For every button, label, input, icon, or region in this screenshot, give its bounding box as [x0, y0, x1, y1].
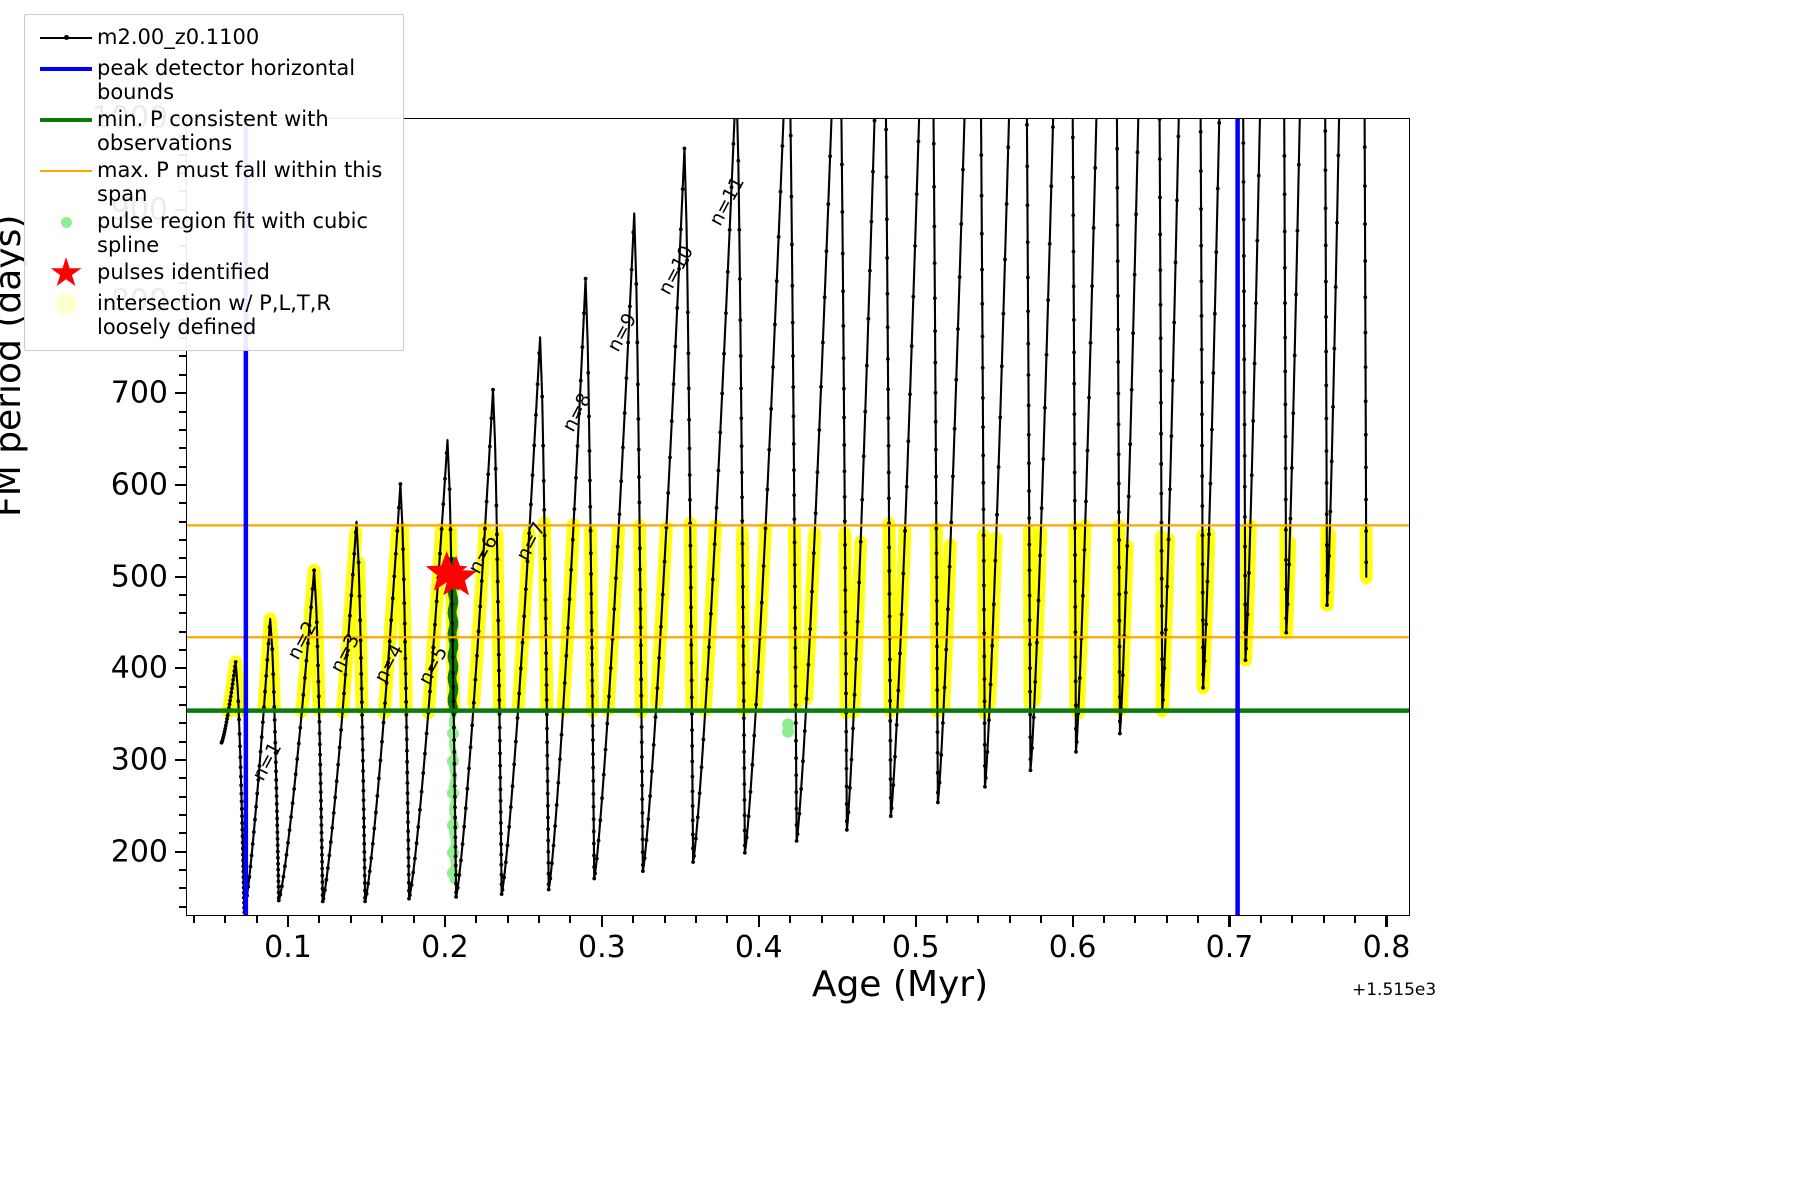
- legend-label: max. P must fall within this span: [97, 156, 393, 206]
- x-tick-minor: [256, 916, 258, 923]
- legend-entry-min-period[interactable]: min. P consistent with observations: [35, 105, 393, 155]
- y-tick-minor: [179, 521, 186, 523]
- x-tick-minor: [1197, 916, 1199, 923]
- x-tick-minor: [1134, 916, 1136, 923]
- y-tick-minor: [179, 594, 186, 596]
- y-tick-major: [175, 484, 186, 486]
- x-tick-minor: [1291, 916, 1293, 923]
- red-star-icon: ★: [35, 258, 97, 288]
- y-tick-minor: [179, 374, 186, 376]
- y-tick-minor: [179, 466, 186, 468]
- y-tick-minor: [179, 887, 186, 889]
- y-tick-label: 400: [58, 651, 168, 686]
- x-tick-major: [287, 916, 289, 927]
- legend-label: peak detector horizontal bounds: [97, 54, 393, 104]
- y-tick-minor: [179, 612, 186, 614]
- y-tick-minor: [179, 631, 186, 633]
- orange-line-icon: [35, 156, 97, 186]
- x-tick-minor: [977, 916, 979, 923]
- legend-label: pulses identified: [97, 258, 270, 285]
- x-tick-minor: [413, 916, 415, 923]
- x-tick-minor: [695, 916, 697, 923]
- y-tick-label: 600: [58, 467, 168, 502]
- legend-entry-peak-bounds[interactable]: peak detector horizontal bounds: [35, 54, 393, 104]
- legend-label: pulse region fit with cubic spline: [97, 207, 393, 257]
- x-tick-minor: [789, 916, 791, 923]
- y-tick-minor: [179, 502, 186, 504]
- x-tick-minor: [569, 916, 571, 923]
- yellow-dot-icon: [35, 289, 97, 319]
- y-tick-minor: [179, 722, 186, 724]
- y-tick-label: 200: [58, 834, 168, 869]
- x-tick-label: 0.6: [1049, 930, 1097, 965]
- x-tick-minor: [946, 916, 948, 923]
- x-tick-minor: [632, 916, 634, 923]
- green-line-icon: [35, 105, 97, 135]
- legend-entry-spline-fit[interactable]: pulse region fit with cubic spline: [35, 207, 393, 257]
- y-tick-minor: [179, 447, 186, 449]
- x-axis-offset-text: +1.515e3: [1352, 980, 1436, 1000]
- x-tick-minor: [193, 916, 195, 923]
- y-tick-major: [175, 759, 186, 761]
- legend-entry-intersection[interactable]: intersection w/ P,L,T,R loosely defined: [35, 289, 393, 339]
- x-tick-minor: [726, 916, 728, 923]
- legend-entry-max-period[interactable]: max. P must fall within this span: [35, 156, 393, 206]
- x-tick-minor: [821, 916, 823, 923]
- y-tick-minor: [179, 557, 186, 559]
- y-tick-label: 300: [58, 743, 168, 778]
- y-tick-major: [175, 851, 186, 853]
- x-axis-label: Age (Myr): [0, 964, 1800, 1005]
- y-tick-label: 500: [58, 559, 168, 594]
- x-tick-minor: [883, 916, 885, 923]
- y-tick-minor: [179, 869, 186, 871]
- y-tick-minor: [179, 796, 186, 798]
- x-tick-label: 0.4: [735, 930, 783, 965]
- x-tick-label: 0.7: [1206, 930, 1254, 965]
- x-tick-major: [1228, 916, 1230, 927]
- legend[interactable]: m2.00_z0.1100 peak detector horizontal b…: [24, 14, 404, 351]
- green-dot-icon: [35, 207, 97, 237]
- y-tick-label: 700: [58, 376, 168, 411]
- x-tick-minor: [1323, 916, 1325, 923]
- x-tick-minor: [1260, 916, 1262, 923]
- y-tick-major: [175, 576, 186, 578]
- x-tick-label: 0.8: [1363, 930, 1411, 965]
- x-tick-minor: [507, 916, 509, 923]
- x-tick-minor: [538, 916, 540, 923]
- x-tick-label: 0.2: [421, 930, 469, 965]
- line-marker-icon: [35, 23, 97, 53]
- legend-entry-model[interactable]: m2.00_z0.1100: [35, 23, 393, 53]
- x-tick-minor: [350, 916, 352, 923]
- x-tick-minor: [318, 916, 320, 923]
- legend-label: intersection w/ P,L,T,R loosely defined: [97, 289, 331, 339]
- y-tick-minor: [179, 649, 186, 651]
- y-tick-minor: [179, 686, 186, 688]
- x-tick-minor: [475, 916, 477, 923]
- y-tick-minor: [179, 411, 186, 413]
- y-tick-minor: [179, 429, 186, 431]
- x-tick-minor: [852, 916, 854, 923]
- x-tick-major: [601, 916, 603, 927]
- x-tick-label: 0.5: [892, 930, 940, 965]
- x-tick-major: [915, 916, 917, 927]
- x-tick-minor: [1166, 916, 1168, 923]
- y-tick-minor: [179, 741, 186, 743]
- x-tick-label: 0.1: [264, 930, 312, 965]
- y-tick-minor: [179, 704, 186, 706]
- x-tick-minor: [664, 916, 666, 923]
- x-tick-major: [758, 916, 760, 927]
- y-tick-minor: [179, 355, 186, 357]
- x-tick-minor: [1009, 916, 1011, 923]
- y-tick-minor: [179, 832, 186, 834]
- blue-line-icon: [35, 54, 97, 84]
- x-tick-minor: [1040, 916, 1042, 923]
- legend-label: m2.00_z0.1100: [97, 23, 259, 50]
- figure-canvas: FM period (days) 20030040050060070080090…: [0, 0, 1800, 1200]
- legend-label: min. P consistent with observations: [97, 105, 393, 155]
- x-tick-minor: [1354, 916, 1356, 923]
- y-tick-minor: [179, 906, 186, 908]
- x-tick-minor: [224, 916, 226, 923]
- x-tick-label: 0.3: [578, 930, 626, 965]
- x-tick-major: [444, 916, 446, 927]
- x-tick-major: [1385, 916, 1387, 927]
- y-tick-minor: [179, 777, 186, 779]
- y-tick-minor: [179, 539, 186, 541]
- legend-entry-pulses[interactable]: ★ pulses identified: [35, 258, 393, 288]
- x-tick-major: [1072, 916, 1074, 927]
- y-tick-minor: [179, 814, 186, 816]
- x-tick-minor: [381, 916, 383, 923]
- x-tick-minor: [1103, 916, 1105, 923]
- y-tick-major: [175, 392, 186, 394]
- y-tick-major: [175, 667, 186, 669]
